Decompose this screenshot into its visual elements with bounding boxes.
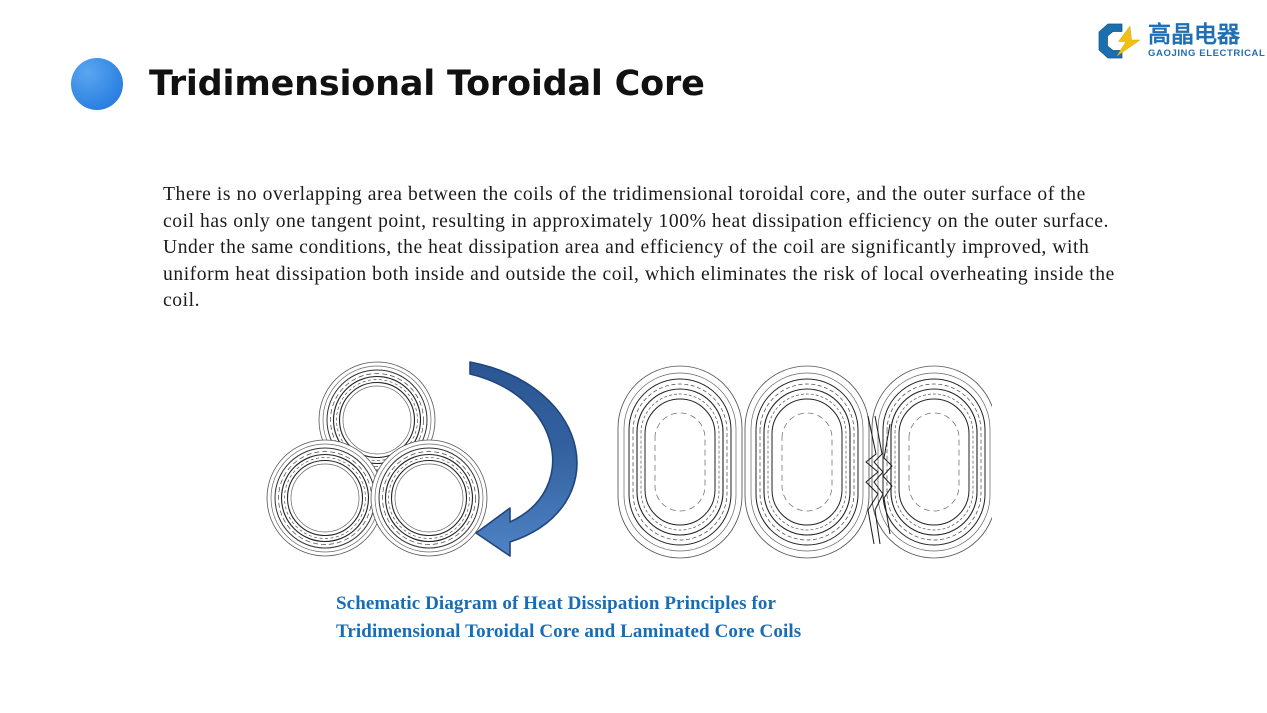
curved-left-arrow-icon xyxy=(470,362,577,556)
brand-logo: 高晶电器 GAOJING ELECTRICAL xyxy=(1096,17,1256,65)
toroidal-core-bottom-left xyxy=(267,440,383,556)
blue-circle-bullet-icon xyxy=(71,58,123,110)
logo-chinese-name: 高晶电器 xyxy=(1148,24,1265,47)
logo-wordmark: 高晶电器 GAOJING ELECTRICAL xyxy=(1148,24,1265,59)
heat-dissipation-schematic-svg xyxy=(262,358,992,568)
laminated-coil-left xyxy=(618,366,742,558)
figure-caption-line-2: Tridimensional Toroidal Core and Laminat… xyxy=(336,618,801,646)
slide-title-row: Tridimensional Toroidal Core xyxy=(71,58,705,110)
figure-caption: Schematic Diagram of Heat Dissipation Pr… xyxy=(336,590,801,646)
toroidal-core-group xyxy=(267,362,487,556)
laminated-coil-middle xyxy=(745,366,869,558)
gaojing-c-lightning-logo-icon xyxy=(1096,22,1142,60)
logo-english-name: GAOJING ELECTRICAL xyxy=(1148,49,1265,59)
body-paragraph: There is no overlapping area between the… xyxy=(163,182,1115,315)
figure-illustration xyxy=(262,358,992,568)
laminated-core-coil-group xyxy=(618,366,992,558)
laminated-coil-right xyxy=(872,366,992,558)
figure-caption-line-1: Schematic Diagram of Heat Dissipation Pr… xyxy=(336,590,801,618)
toroidal-core-bottom-right xyxy=(371,440,487,556)
page-title: Tridimensional Toroidal Core xyxy=(149,64,705,104)
